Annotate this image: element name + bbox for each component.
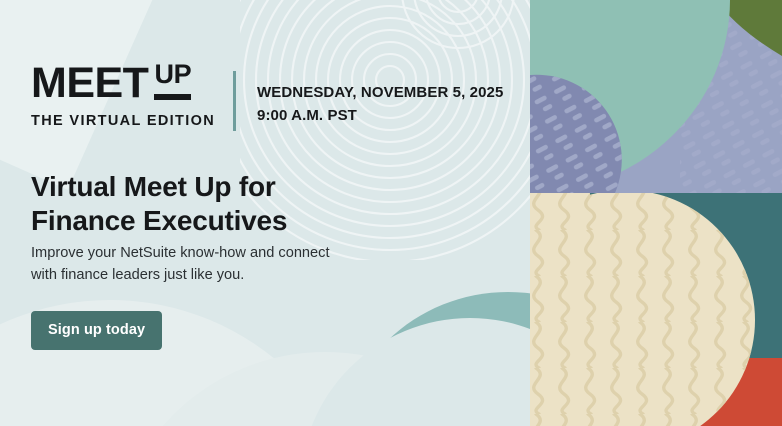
logo-meet-text: MEET xyxy=(31,62,148,105)
event-date: WEDNESDAY, NOVEMBER 5, 2025 xyxy=(257,82,503,105)
subhead-line-1: Improve your NetSuite know-how and conne… xyxy=(31,243,330,265)
logo-up-text: UP xyxy=(154,61,191,88)
event-time: 9:00 A.M. PST xyxy=(257,105,503,128)
promo-banner: MEET UP THE VIRTUAL EDITION WEDNESDAY, N… xyxy=(0,0,782,426)
content-panel: MEET UP THE VIRTUAL EDITION WEDNESDAY, N… xyxy=(0,0,530,426)
page-title: Virtual Meet Up for Finance Executives xyxy=(31,170,287,238)
decorative-art-panel xyxy=(530,0,782,426)
geometric-collage-icon xyxy=(530,0,782,426)
vertical-divider xyxy=(233,71,236,131)
subhead-text: Improve your NetSuite know-how and conne… xyxy=(31,243,330,286)
logo-wordmark: MEET UP xyxy=(31,62,215,105)
event-datetime: WEDNESDAY, NOVEMBER 5, 2025 9:00 A.M. PS… xyxy=(257,82,503,128)
logo-tagline: THE VIRTUAL EDITION xyxy=(31,113,215,129)
subhead-line-2: with finance leaders just like you. xyxy=(31,265,330,287)
brand-logo: MEET UP THE VIRTUAL EDITION xyxy=(31,62,215,129)
logo-up-group: UP xyxy=(154,61,191,100)
headline-line-2: Finance Executives xyxy=(31,204,287,238)
logo-underline-rule xyxy=(154,94,191,100)
headline-line-1: Virtual Meet Up for xyxy=(31,170,287,204)
sign-up-button[interactable]: Sign up today xyxy=(31,311,162,350)
